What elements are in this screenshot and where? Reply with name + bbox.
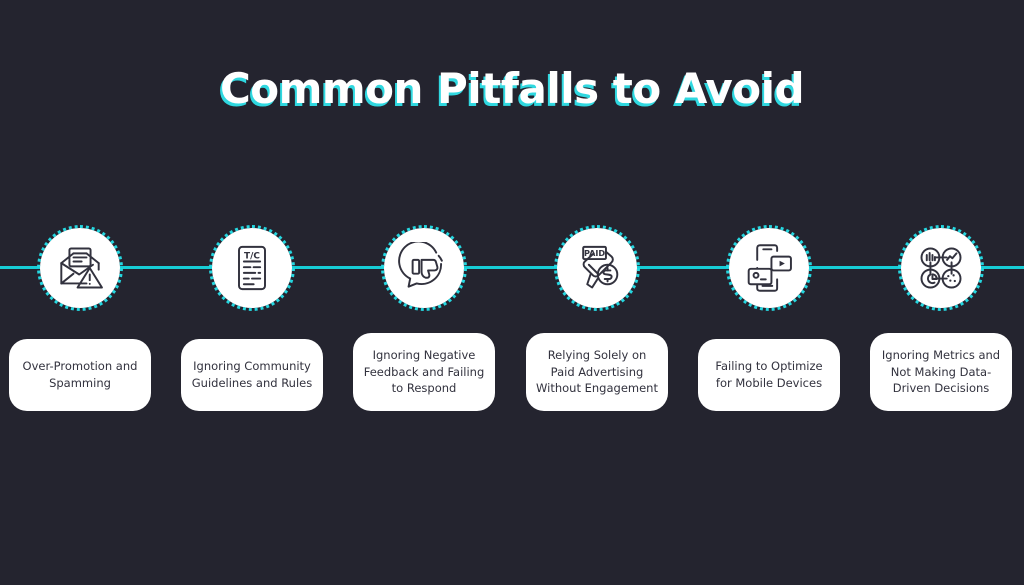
timeline-item-1[interactable]: Over-Promotion and Spamming	[0, 0, 166, 585]
paid-megaphone-dollar-icon: PAID	[571, 242, 623, 294]
timeline-label-5: Failing to Optimize for Mobile Devices	[707, 358, 831, 391]
terms-document-icon: T/C	[226, 242, 278, 294]
timeline-label-6: Ignoring Metrics and Not Making Data-Dri…	[879, 347, 1003, 397]
timeline-item-3[interactable]: Ignoring Negative Feedback and Failing t…	[338, 0, 510, 585]
timeline-item-2[interactable]: T/C Ignoring Community Guidelines and Ru…	[166, 0, 338, 585]
timeline-label-card-6[interactable]: Ignoring Metrics and Not Making Data-Dri…	[870, 333, 1012, 411]
envelope-warning-icon	[54, 242, 106, 294]
timeline-label-card-1[interactable]: Over-Promotion and Spamming	[9, 339, 151, 411]
timeline-label-3: Ignoring Negative Feedback and Failing t…	[362, 347, 486, 397]
timeline-label-card-3[interactable]: Ignoring Negative Feedback and Failing t…	[353, 333, 495, 411]
analytics-network-icon	[915, 242, 967, 294]
svg-text:T/C: T/C	[244, 251, 260, 261]
thumbs-down-speech-bubble-icon	[398, 242, 450, 294]
timeline-label-card-2[interactable]: Ignoring Community Guidelines and Rules	[181, 339, 323, 411]
mobile-media-icon	[743, 242, 795, 294]
timeline-icon-1[interactable]	[40, 228, 120, 308]
timeline-items: Over-Promotion and Spamming T/C Ignoring…	[0, 0, 1024, 585]
timeline-icon-6[interactable]	[901, 228, 981, 308]
timeline-item-6[interactable]: Ignoring Metrics and Not Making Data-Dri…	[855, 0, 1024, 585]
timeline-icon-3[interactable]	[384, 228, 464, 308]
timeline-label-4: Relying Solely on Paid Advertising Witho…	[535, 347, 659, 397]
timeline-label-2: Ignoring Community Guidelines and Rules	[190, 358, 314, 391]
timeline-icon-4[interactable]: PAID	[557, 228, 637, 308]
timeline-label-1: Over-Promotion and Spamming	[18, 358, 142, 391]
timeline-label-card-5[interactable]: Failing to Optimize for Mobile Devices	[698, 339, 840, 411]
timeline-icon-5[interactable]	[729, 228, 809, 308]
timeline-label-card-4[interactable]: Relying Solely on Paid Advertising Witho…	[526, 333, 668, 411]
timeline-item-5[interactable]: Failing to Optimize for Mobile Devices	[683, 0, 855, 585]
svg-text:PAID: PAID	[584, 248, 605, 258]
timeline-icon-2[interactable]: T/C	[212, 228, 292, 308]
timeline-item-4[interactable]: PAID Relying Solely on Paid Advertising …	[511, 0, 683, 585]
